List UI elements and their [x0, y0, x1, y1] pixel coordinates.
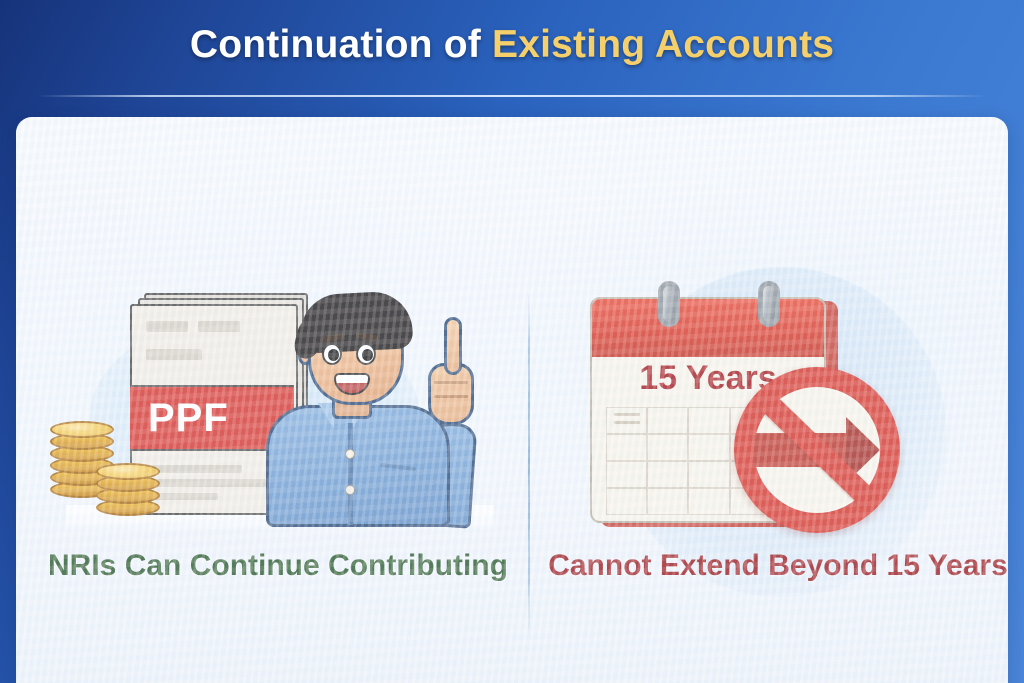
- calendar-header-bar: [592, 299, 824, 357]
- slide-root: Continuation of Existing Accounts PPF: [0, 0, 1024, 683]
- column-divider: [528, 293, 530, 637]
- no-entry-prohibition-icon: [734, 367, 900, 533]
- calendar-binder-ring-left-icon: [658, 281, 680, 327]
- slide-header: Continuation of Existing Accounts: [0, 0, 1024, 118]
- coin-stacks-icon: [50, 409, 178, 519]
- column-right: 15 Years: [538, 267, 1008, 667]
- page-title-white-part: Continuation of: [190, 23, 492, 66]
- caption-left: NRIs Can Continue Contributing: [38, 545, 518, 588]
- page-title: Continuation of Existing Accounts: [190, 23, 834, 67]
- page-title-gold-part: Existing Accounts: [492, 23, 834, 66]
- ppf-illustration: PPF: [38, 267, 518, 529]
- pointing-person-icon: [252, 277, 502, 527]
- header-divider-rule: [38, 95, 986, 97]
- content-panel: PPF: [16, 117, 1008, 683]
- column-left: PPF: [38, 267, 518, 667]
- caption-right: Cannot Extend Beyond 15 Years: [538, 545, 1008, 588]
- calendar-illustration: 15 Years: [538, 267, 1008, 529]
- calendar-binder-ring-right-icon: [758, 281, 780, 327]
